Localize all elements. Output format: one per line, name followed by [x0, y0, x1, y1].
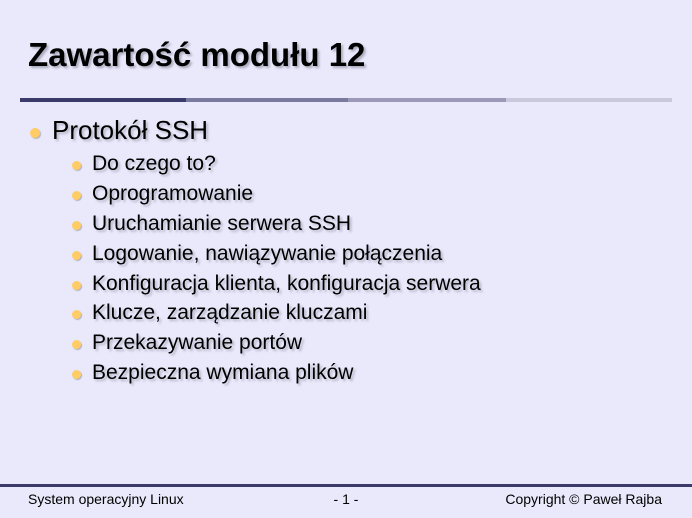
bullet-icon	[30, 128, 40, 138]
bullet-icon	[72, 310, 81, 319]
list-item: Logowanie, nawiązywanie połączenia	[72, 241, 670, 268]
list-item-label: Protokół SSH	[52, 116, 208, 145]
title-divider-segment-2	[186, 98, 348, 102]
bullet-icon	[72, 251, 81, 260]
list-item-label: Uruchamianie serwera SSH	[92, 211, 351, 238]
list-item-label: Logowanie, nawiązywanie połączenia	[92, 241, 442, 268]
list-item-label: Klucze, zarządzanie kluczami	[92, 300, 367, 327]
list-item: Uruchamianie serwera SSH	[72, 211, 670, 238]
title-divider-segment-4	[506, 98, 672, 102]
footer-copyright: Copyright © Paweł Rajba	[505, 491, 662, 507]
bullet-icon	[72, 191, 81, 200]
bullet-icon	[72, 281, 81, 290]
outline-list: Protokół SSH Do czego to? Oprogramowanie…	[30, 116, 670, 390]
list-item: Oprogramowanie	[72, 181, 670, 208]
list-item: Do czego to?	[72, 151, 670, 178]
list-item-label: Konfiguracja klienta, konfiguracja serwe…	[92, 271, 481, 298]
title-divider-segment-3	[348, 98, 506, 102]
bullet-icon	[72, 340, 81, 349]
list-item-label: Przekazywanie portów	[92, 330, 302, 357]
bullet-icon	[72, 221, 81, 230]
list-item-label: Bezpieczna wymiana plików	[92, 360, 353, 387]
list-item: Bezpieczna wymiana plików	[72, 360, 670, 387]
list-item-label: Oprogramowanie	[92, 181, 253, 208]
list-item: Protokół SSH	[30, 116, 670, 145]
title-divider-segment-1	[20, 98, 186, 102]
footer: System operacyjny Linux - 1 - Copyright …	[0, 487, 692, 518]
page-title: Zawartość modułu 12	[28, 36, 365, 74]
slide: Zawartość modułu 12 Protokół SSH Do czeg…	[0, 0, 692, 518]
list-item-label: Do czego to?	[92, 151, 216, 178]
list-item: Przekazywanie portów	[72, 330, 670, 357]
bullet-icon	[72, 370, 81, 379]
list-item: Klucze, zarządzanie kluczami	[72, 300, 670, 327]
list-item: Konfiguracja klienta, konfiguracja serwe…	[72, 271, 670, 298]
bullet-icon	[72, 161, 81, 170]
